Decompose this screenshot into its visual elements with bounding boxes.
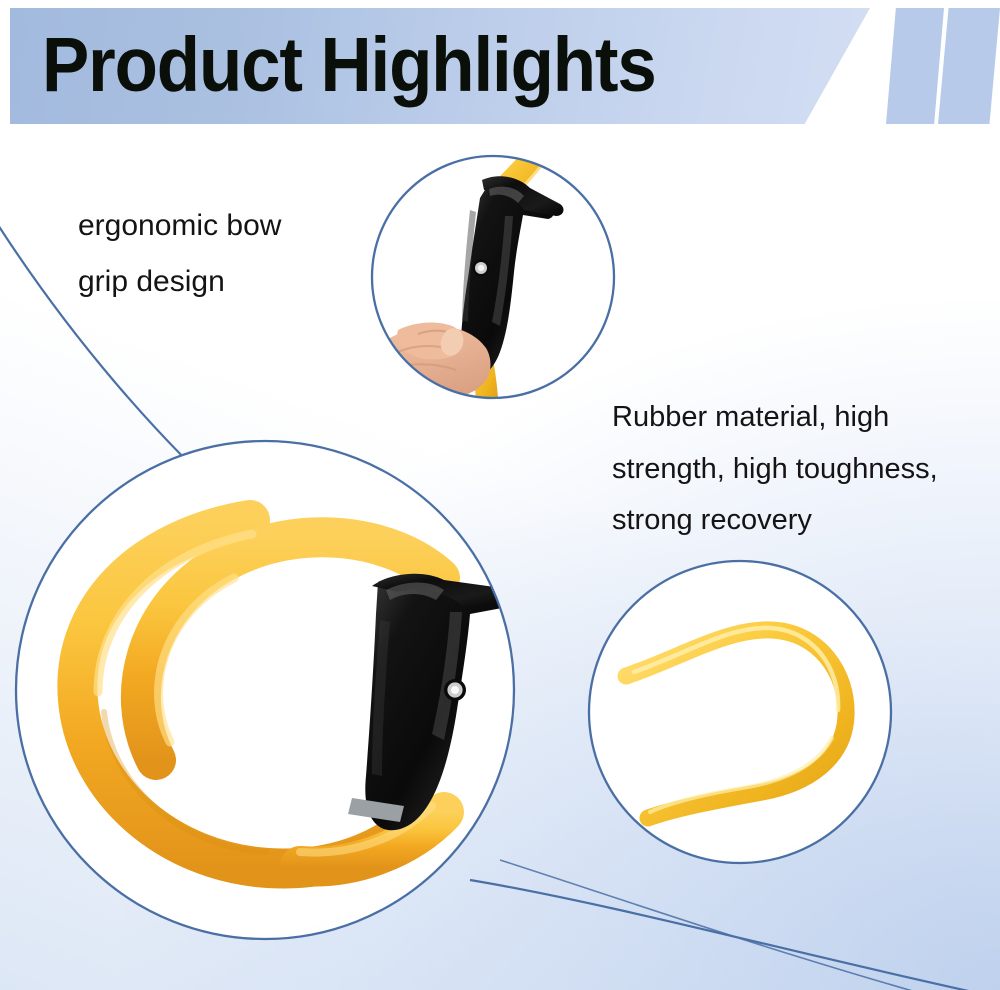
photo-hand-grip bbox=[372, 130, 622, 448]
callout-material-line-1: Rubber material, high bbox=[612, 392, 1000, 444]
callout-material-text: Rubber material, high strength, high tou… bbox=[612, 392, 1000, 547]
callout-grip-line-2: grip design bbox=[78, 254, 378, 310]
hand bbox=[375, 323, 491, 420]
callout-grip-line-1: ergonomic bow bbox=[78, 198, 378, 254]
callout-grip-text: ergonomic bow grip design bbox=[78, 198, 378, 309]
photo-coiled-tube bbox=[16, 441, 514, 939]
callout-material-line-2: strength, high toughness, bbox=[612, 444, 1000, 496]
photo-bent-tube bbox=[589, 561, 891, 863]
product-highlights-infographic: Product Highlights bbox=[0, 0, 1000, 990]
callout-material-line-3: strong recovery bbox=[612, 495, 1000, 547]
